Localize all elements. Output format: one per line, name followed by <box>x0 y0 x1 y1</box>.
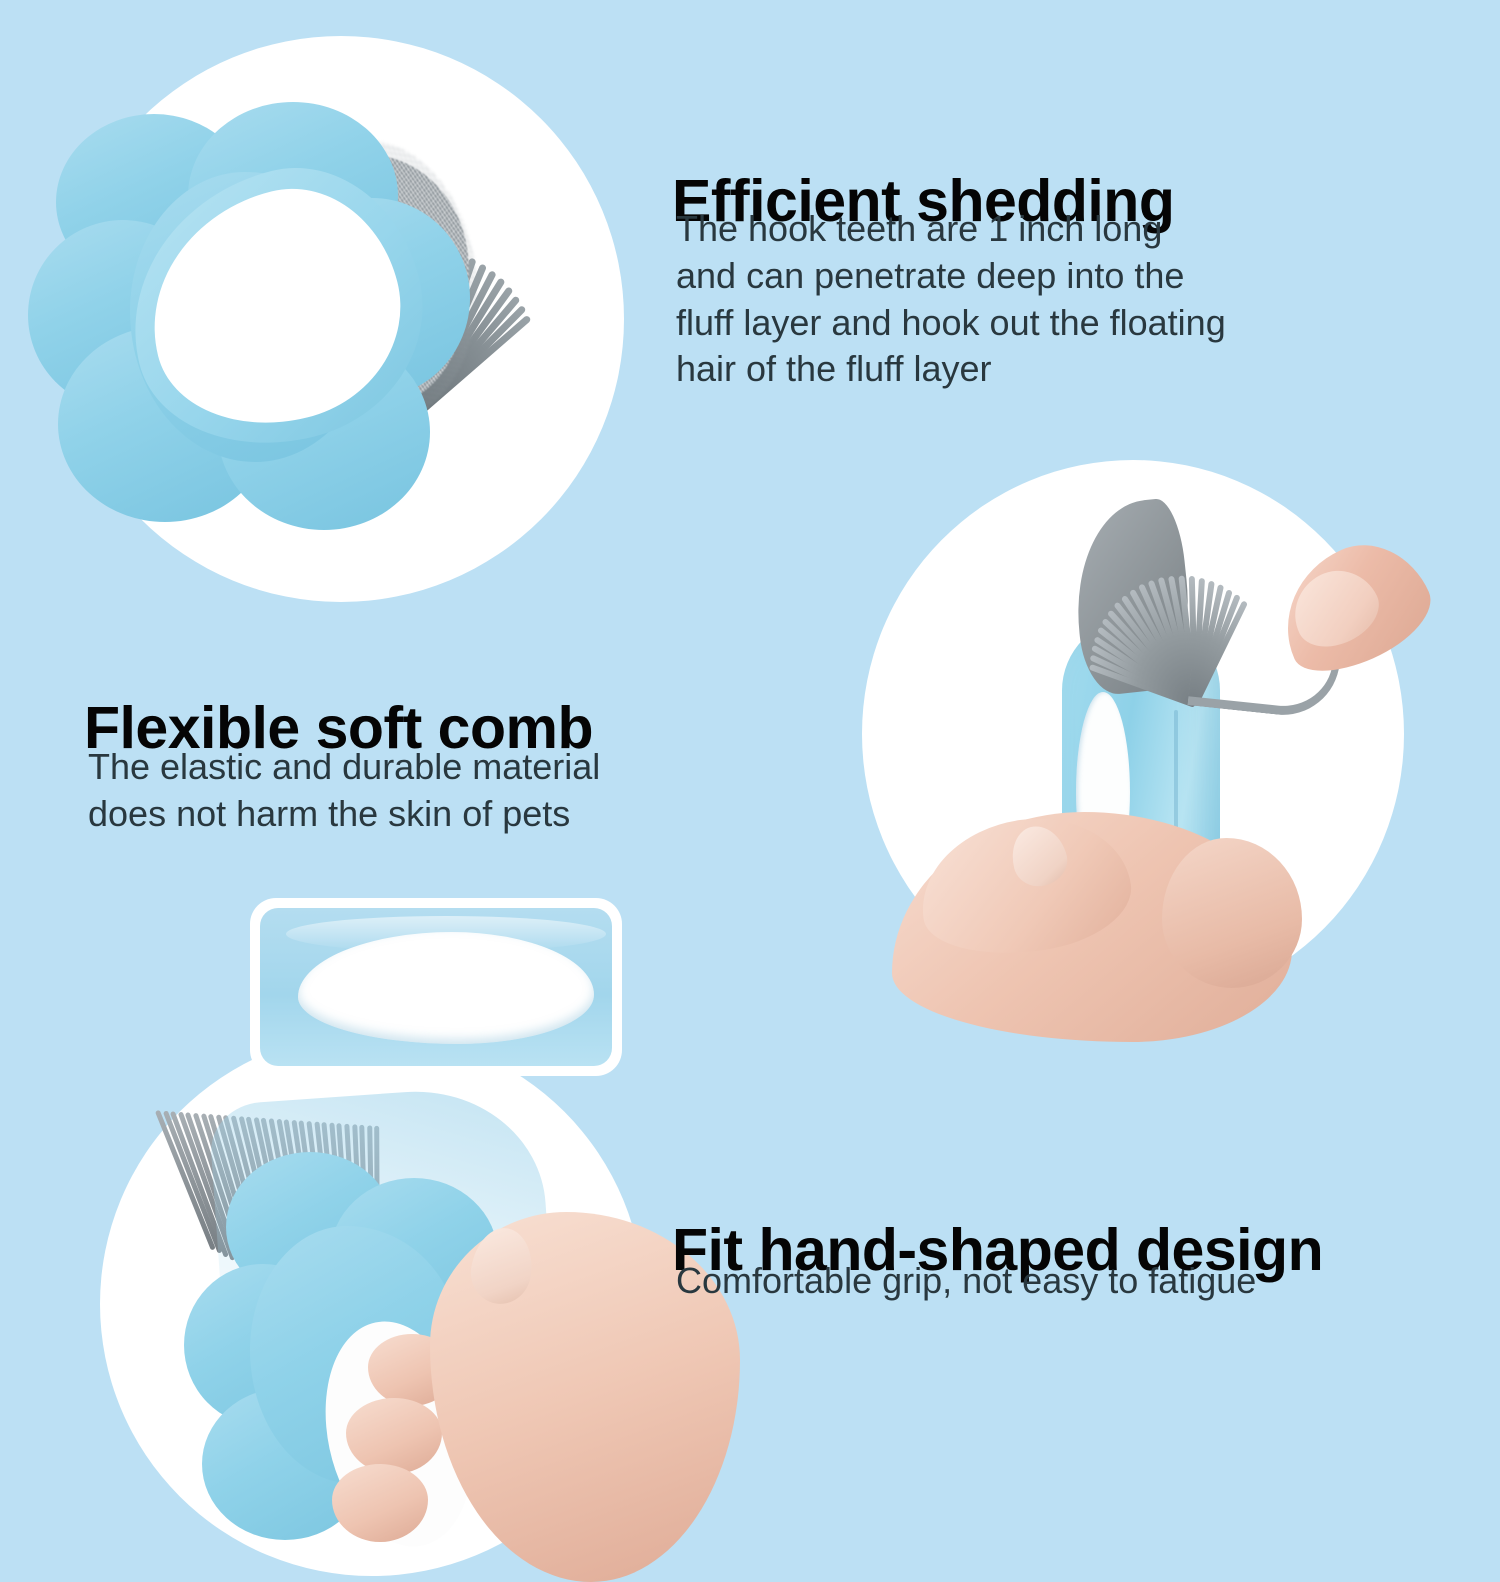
feature-body-efficient-shedding: The hook teeth are 1 inch longand can pe… <box>676 206 1406 393</box>
handle-opening-callout <box>250 898 622 1076</box>
feature-body-fit-hand-shaped-design: Comfortable grip, not easy to fatigue <box>676 1258 1466 1305</box>
feature-body-line: The elastic and durable material <box>88 744 788 791</box>
feature-body-line: Comfortable grip, not easy to fatigue <box>676 1258 1466 1305</box>
feature-body-flexible-soft-comb: The elastic and durable materialdoes not… <box>88 744 788 838</box>
hand-grip-illustration <box>100 1032 644 1576</box>
feature-body-line: hair of the fluff layer <box>676 346 1406 393</box>
feature-body-line: does not harm the skin of pets <box>88 791 788 838</box>
callout-inner <box>260 908 612 1066</box>
feature-body-line: fluff layer and hook out the floating <box>676 300 1406 347</box>
infographic-stage: Efficient shedding The hook teeth are 1 … <box>0 0 1500 1500</box>
fingers <box>1162 838 1302 988</box>
flexing-comb-illustration <box>862 460 1404 1008</box>
brush-with-fur-illustration <box>58 36 624 602</box>
brush-body <box>38 102 476 532</box>
feature-body-line: The hook teeth are 1 inch long <box>676 206 1406 253</box>
callout-handle-slot <box>298 932 594 1044</box>
feature-body-line: and can penetrate deep into the <box>676 253 1406 300</box>
